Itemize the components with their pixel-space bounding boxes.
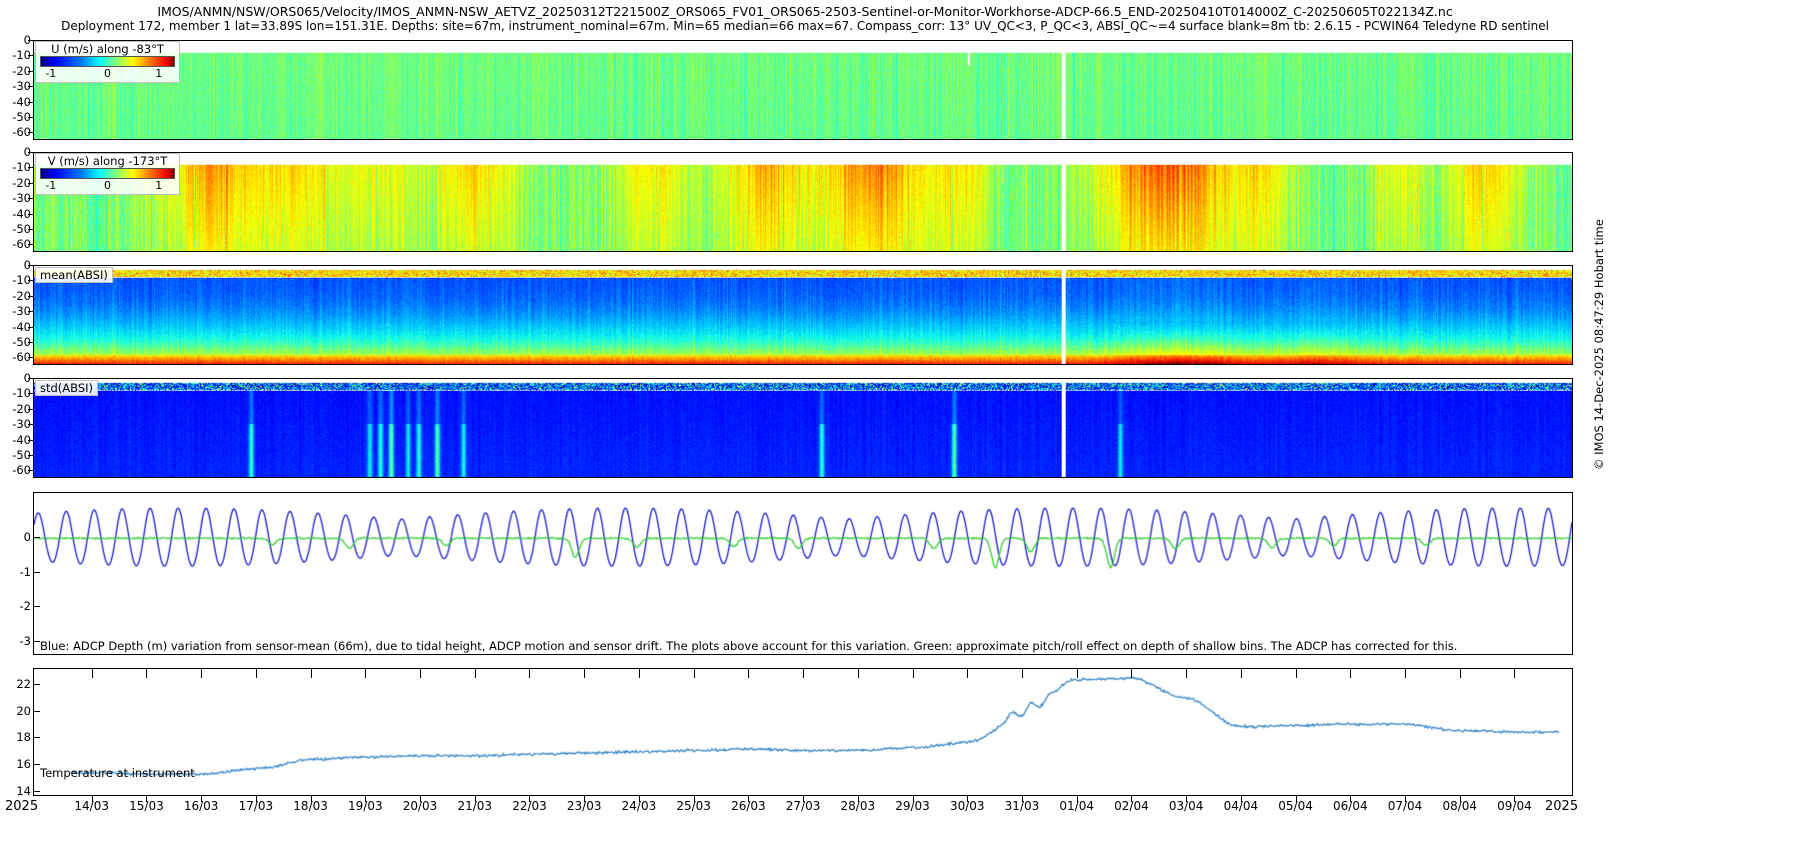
date-tick-mark xyxy=(92,796,93,802)
date-tick-mark-top xyxy=(1460,669,1461,678)
std-absi-panel-label: std(ABSI) xyxy=(35,380,98,396)
date-tick-mark xyxy=(146,796,147,802)
date-tick-mark xyxy=(1514,796,1515,802)
depth-variation-tick-mark xyxy=(33,641,40,642)
std-absi-heatmap xyxy=(34,379,1572,477)
temperature-tick-mark xyxy=(33,791,40,792)
temperature-tick-label: 14 xyxy=(16,784,31,798)
date-tick-mark xyxy=(584,796,585,802)
depth-tick-mark xyxy=(28,244,33,245)
depth-tick-mark xyxy=(28,393,33,394)
depth-tick-mark xyxy=(28,357,33,358)
date-tick-mark-top xyxy=(256,669,257,678)
date-tick-mark-top xyxy=(92,669,93,678)
u-velocity-panel[interactable] xyxy=(33,40,1573,140)
u-velocity-colorbar-gradient xyxy=(40,56,175,67)
date-tick-mark-top xyxy=(1350,669,1351,678)
temperature-tick-mark xyxy=(33,684,40,685)
date-tick-mark xyxy=(1405,796,1406,802)
temperature-label: Temperature at instrument xyxy=(40,766,195,780)
depth-variation-tick-mark xyxy=(33,572,40,573)
depth-tick-mark xyxy=(28,102,33,103)
date-tick-mark-top xyxy=(694,669,695,678)
date-tick-mark xyxy=(748,796,749,802)
date-tick-mark-top xyxy=(420,669,421,678)
depth-tick-mark xyxy=(28,409,33,410)
date-tick-mark-top xyxy=(639,669,640,678)
adcp-depth-variation-panel[interactable] xyxy=(33,492,1573,655)
date-tick-mark xyxy=(475,796,476,802)
date-tick-mark xyxy=(1186,796,1187,802)
depth-tick-mark xyxy=(28,455,33,456)
depth-variation-lines xyxy=(34,493,1572,654)
date-tick-mark xyxy=(1077,796,1078,802)
date-tick-mark-top xyxy=(365,669,366,678)
date-tick-mark-top xyxy=(1514,669,1515,678)
temperature-tick-mark xyxy=(33,711,40,712)
date-tick-mark xyxy=(1296,796,1297,802)
date-tick-mark-top xyxy=(1296,669,1297,678)
v-velocity-colorbar-legend: V (m/s) along -173°T -1 0 1 xyxy=(35,153,180,195)
depth-tick-mark xyxy=(28,424,33,425)
u-velocity-colorbar-label: U (m/s) along -83°T xyxy=(40,43,175,56)
u-velocity-colorbar-ticks: -1 0 1 xyxy=(40,67,175,80)
depth-tick-mark xyxy=(28,198,33,199)
temperature-axis: 1416182022 xyxy=(1,668,31,796)
temperature-line xyxy=(34,669,1572,795)
date-tick-mark xyxy=(967,796,968,802)
date-tick-mark-top xyxy=(913,669,914,678)
depth-tick-mark xyxy=(28,440,33,441)
v-panel-depth-axis: 0-10-20-30-40-50-60 xyxy=(1,152,31,252)
v-colorbar-tick-min: -1 xyxy=(45,179,56,192)
date-tick-mark-top xyxy=(1405,669,1406,678)
depth-tick-mark xyxy=(28,152,33,153)
date-tick-mark xyxy=(1350,796,1351,802)
date-tick-mark-top xyxy=(529,669,530,678)
date-tick-mark-top xyxy=(858,669,859,678)
imos-timestamp-label: © IMOS 14-Dec-2025 08:47:29 Hobart time xyxy=(1592,219,1606,470)
depth-tick-mark xyxy=(28,40,33,41)
date-tick-mark xyxy=(1241,796,1242,802)
year-label-right: 2025 xyxy=(1545,799,1578,814)
depth-tick-mark xyxy=(28,327,33,328)
u-colorbar-tick-max: 1 xyxy=(155,67,162,80)
depth-tick-mark xyxy=(28,183,33,184)
date-tick-mark-top xyxy=(146,669,147,678)
v-velocity-colorbar-gradient xyxy=(40,168,175,179)
v-velocity-heatmap xyxy=(34,153,1572,251)
date-tick-mark xyxy=(1460,796,1461,802)
std-absi-panel-depth-axis: 0-10-20-30-40-50-60 xyxy=(1,378,31,478)
chart-title-block: IMOS/ANMN/NSW/ORS065/Velocity/IMOS_ANMN-… xyxy=(0,4,1610,34)
temperature-tick-mark xyxy=(33,764,40,765)
v-colorbar-tick-max: 1 xyxy=(155,179,162,192)
u-colorbar-tick-min: -1 xyxy=(45,67,56,80)
mean-absi-panel-depth-axis: 0-10-20-30-40-50-60 xyxy=(1,265,31,365)
depth-tick-mark xyxy=(28,311,33,312)
depth-variation-tick-label: -1 xyxy=(20,565,31,579)
mean-absi-heatmap xyxy=(34,266,1572,364)
u-velocity-heatmap xyxy=(34,41,1572,139)
depth-variation-tick-label: -2 xyxy=(20,599,31,613)
temperature-tick-mark xyxy=(33,737,40,738)
depth-variation-tick-mark xyxy=(33,537,40,538)
mean-absi-panel[interactable] xyxy=(33,265,1573,365)
depth-tick-mark xyxy=(28,229,33,230)
date-tick-mark xyxy=(201,796,202,802)
date-tick-mark xyxy=(858,796,859,802)
depth-tick-mark xyxy=(28,296,33,297)
title-line-1: IMOS/ANMN/NSW/ORS065/Velocity/IMOS_ANMN-… xyxy=(0,4,1610,19)
depth-tick-mark xyxy=(28,132,33,133)
depth-tick-mark xyxy=(28,55,33,56)
date-tick-mark xyxy=(1131,796,1132,802)
date-tick-mark-top xyxy=(1186,669,1187,678)
date-tick-mark-top xyxy=(1241,669,1242,678)
date-tick-mark-top xyxy=(201,669,202,678)
date-tick-mark-top xyxy=(1077,669,1078,678)
v-colorbar-tick-mid: 0 xyxy=(104,179,111,192)
date-tick-mark xyxy=(529,796,530,802)
date-tick-mark xyxy=(420,796,421,802)
title-line-2: Deployment 172, member 1 lat=33.89S lon=… xyxy=(0,19,1610,34)
date-tick-mark xyxy=(311,796,312,802)
date-tick-mark-top xyxy=(967,669,968,678)
depth-variation-tick-mark xyxy=(33,606,40,607)
date-tick-mark-top xyxy=(748,669,749,678)
depth-variation-axis: 0-1-2-3 xyxy=(1,492,31,655)
depth-tick-mark xyxy=(28,280,33,281)
date-tick-mark-top xyxy=(311,669,312,678)
u-velocity-colorbar-legend: U (m/s) along -83°T -1 0 1 xyxy=(35,41,180,83)
depth-tick-mark xyxy=(28,378,33,379)
temperature-tick-label: 22 xyxy=(16,677,31,691)
depth-tick-mark xyxy=(28,86,33,87)
temperature-panel[interactable] xyxy=(33,668,1573,796)
date-tick-mark-top xyxy=(475,669,476,678)
date-tick-mark-top xyxy=(1131,669,1132,678)
depth-tick-mark xyxy=(28,265,33,266)
date-tick-mark xyxy=(365,796,366,802)
temperature-tick-label: 18 xyxy=(16,730,31,744)
depth-tick-mark xyxy=(28,342,33,343)
date-tick-mark-top xyxy=(803,669,804,678)
date-tick-mark-top xyxy=(1022,669,1023,678)
temperature-tick-label: 20 xyxy=(16,704,31,718)
depth-variation-tick-label: 0 xyxy=(24,530,31,544)
depth-tick-mark xyxy=(28,214,33,215)
year-label-left: 2025 xyxy=(5,799,38,814)
u-colorbar-tick-mid: 0 xyxy=(104,67,111,80)
temperature-tick-label: 16 xyxy=(16,757,31,771)
depth-variation-note: Blue: ADCP Depth (m) variation from sens… xyxy=(40,639,1457,653)
v-velocity-panel[interactable] xyxy=(33,152,1573,252)
date-tick-mark-top xyxy=(584,669,585,678)
date-tick-mark xyxy=(639,796,640,802)
v-velocity-colorbar-ticks: -1 0 1 xyxy=(40,179,175,192)
depth-tick-mark xyxy=(28,167,33,168)
date-tick-mark xyxy=(1022,796,1023,802)
u-panel-depth-axis: 0-10-20-30-40-50-60 xyxy=(1,40,31,140)
depth-tick-mark xyxy=(28,71,33,72)
date-tick-mark xyxy=(256,796,257,802)
v-velocity-colorbar-label: V (m/s) along -173°T xyxy=(40,155,175,168)
depth-tick-mark xyxy=(28,470,33,471)
depth-tick-mark xyxy=(28,117,33,118)
date-tick-mark xyxy=(803,796,804,802)
std-absi-panel[interactable] xyxy=(33,378,1573,478)
date-tick-mark xyxy=(694,796,695,802)
mean-absi-panel-label: mean(ABSI) xyxy=(35,267,113,283)
date-tick-mark xyxy=(913,796,914,802)
depth-variation-tick-label: -3 xyxy=(20,634,31,648)
